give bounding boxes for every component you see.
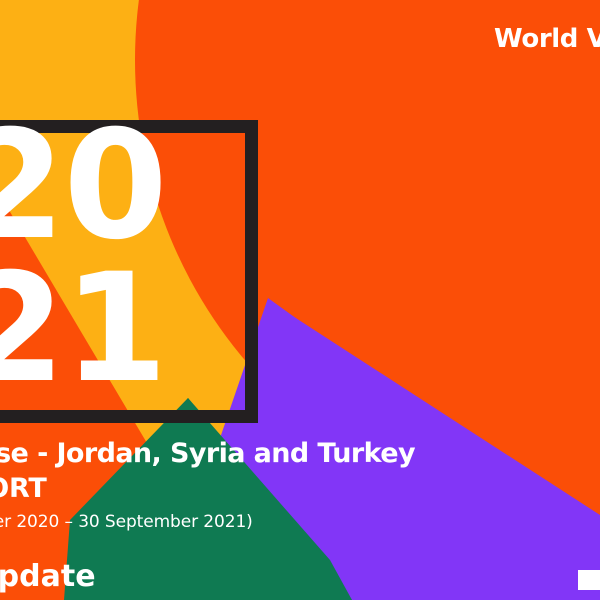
corner-mark-icon: [578, 570, 600, 590]
brand-wordmark: World Vis: [494, 24, 600, 54]
report-title: UAL REPORT: [0, 473, 600, 504]
year-badge: 20 21: [0, 120, 258, 423]
fiscal-year-subtitle: al Year (1 October 2020 – 30 September 2…: [0, 512, 600, 532]
update-word: Update: [0, 559, 96, 594]
year-digits: 20 21: [0, 115, 265, 400]
year-digits-top: 20: [0, 115, 265, 258]
impact-update-heading: Impact Update: [0, 560, 600, 593]
year-digits-bottom: 21: [0, 258, 265, 401]
program-title: a Response - Jordan, Syria and Turkey: [0, 440, 600, 468]
report-cover: 20 21 World Vis a Response - Jordan, Syr…: [0, 0, 600, 600]
title-block: a Response - Jordan, Syria and Turkey UA…: [0, 440, 600, 593]
